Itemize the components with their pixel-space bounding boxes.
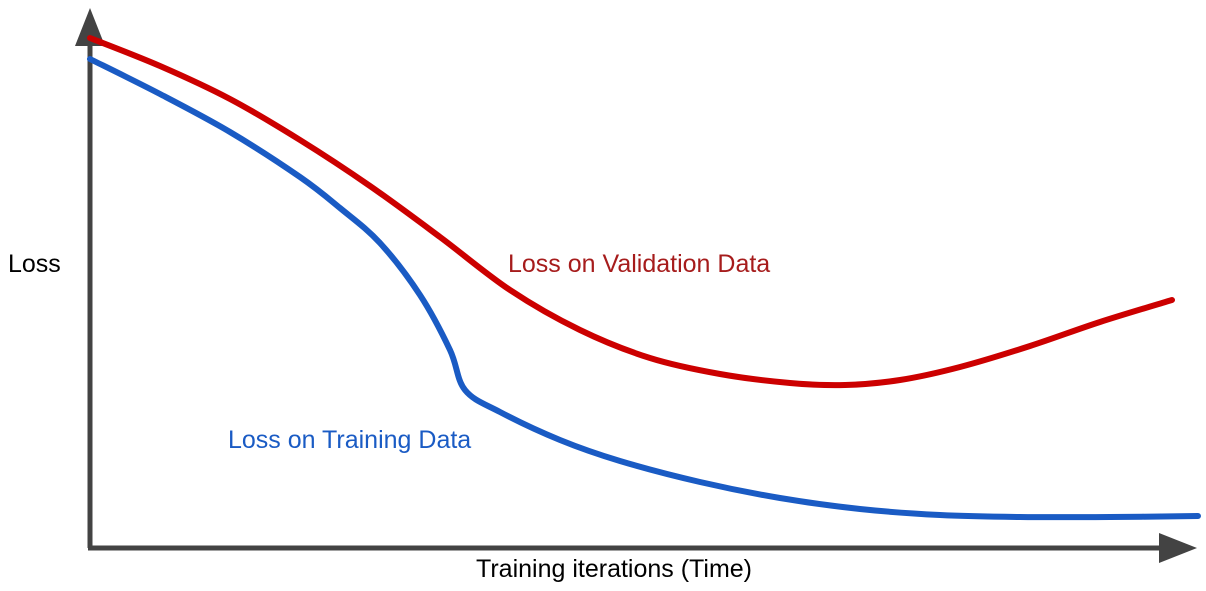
validation-series-label: Loss on Validation Data [508,252,770,277]
validation-loss-curve [90,38,1172,385]
x-axis-arrowhead [1159,533,1197,563]
loss-curve-chart: Loss Training iterations (Time) Loss on … [0,0,1206,591]
y-axis-label: Loss [8,252,61,277]
x-axis-label: Training iterations (Time) [476,557,752,582]
chart-canvas [0,0,1206,591]
training-series-label: Loss on Training Data [228,428,471,453]
axes-group [75,8,1197,563]
